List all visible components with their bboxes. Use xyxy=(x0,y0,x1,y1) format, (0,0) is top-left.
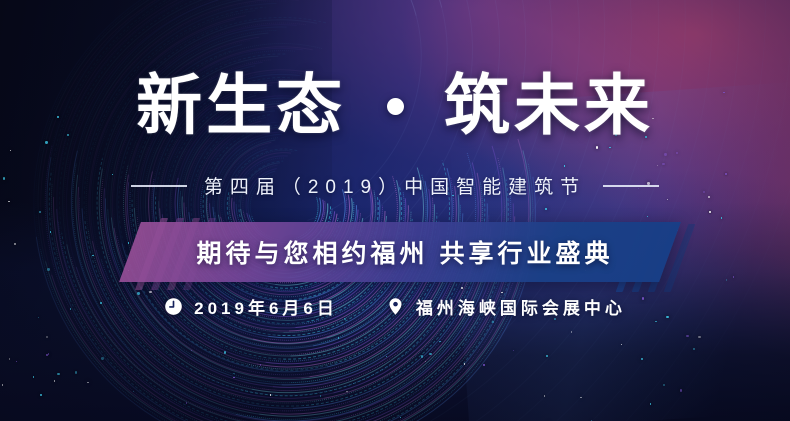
banner-subtitle: 第四届（2019）中国智能建筑节 xyxy=(204,172,586,199)
tagline-text: 期待与您相约福州 共享行业盛典 xyxy=(130,222,670,282)
event-banner: 新生态 筑未来 第四届（2019）中国智能建筑节 期待与您相约福州 共享行业盛典… xyxy=(0,0,790,421)
rule-left xyxy=(131,185,187,187)
title-left: 新生态 xyxy=(136,68,346,142)
event-venue-text: 福州海峡国际会展中心 xyxy=(416,294,626,319)
title-separator-dot xyxy=(387,98,404,115)
tagline-band: 期待与您相约福州 共享行业盛典 xyxy=(130,222,670,282)
rule-right xyxy=(603,185,659,187)
event-date-item: 2019年6月6日 xyxy=(164,294,338,319)
event-date-text: 2019年6月6日 xyxy=(194,294,338,319)
banner-title: 新生态 筑未来 xyxy=(0,72,790,138)
location-pin-icon xyxy=(386,297,405,316)
event-venue-item: 福州海峡国际会展中心 xyxy=(386,294,626,319)
clock-icon xyxy=(164,297,183,316)
event-info-row: 2019年6月6日 福州海峡国际会展中心 xyxy=(0,294,790,319)
banner-subtitle-row: 第四届（2019）中国智能建筑节 xyxy=(0,172,790,199)
background-vignette xyxy=(0,0,790,421)
title-right: 筑未来 xyxy=(444,68,654,142)
